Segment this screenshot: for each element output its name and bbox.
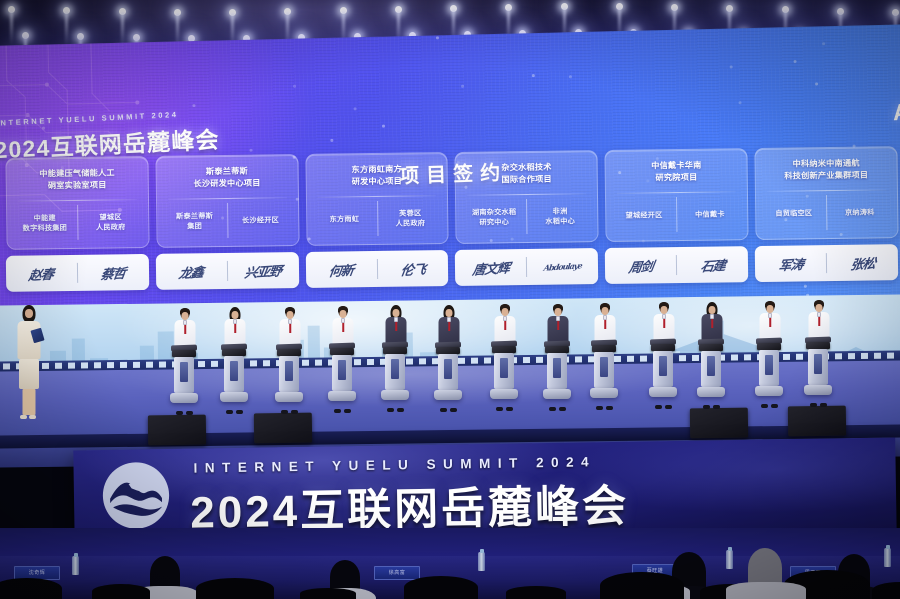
foreground-audience-head bbox=[506, 586, 566, 599]
signing-podium bbox=[653, 344, 673, 400]
project-parties: 斯泰兰蒂斯集团 长沙经开区 bbox=[162, 198, 293, 247]
party-left: 自贸临空区 bbox=[761, 208, 826, 219]
screen-particle bbox=[730, 65, 733, 68]
signature-panel: 何新 伦飞 bbox=[305, 250, 448, 288]
party-left: 湖南杂交水稻研究中心 bbox=[462, 207, 527, 228]
signature-left: 赵春 bbox=[6, 255, 77, 292]
project-title: 东方雨虹南方研发中心项目 bbox=[311, 163, 442, 189]
project-title: 中能建压气储能人工硐室实验室项目 bbox=[12, 167, 143, 193]
project-card: 中科纳米中南通航科技创新产业集群项目 自贸临空区 京纳涛科 bbox=[755, 146, 899, 240]
signing-podium bbox=[438, 347, 458, 403]
party-right: 芙蓉区人民政府 bbox=[378, 208, 443, 229]
party-right: 京纳涛科 bbox=[827, 207, 892, 218]
light-beam bbox=[10, 11, 13, 45]
screen-particle bbox=[794, 60, 797, 63]
signature-right: 兴亚野 bbox=[228, 252, 299, 289]
host-presenter bbox=[12, 303, 46, 421]
project-title: 中信戴卡华南研究院项目 bbox=[611, 159, 742, 185]
project-card: 中信戴卡华南研究院项目 望城经开区 中信戴卡 bbox=[605, 148, 749, 242]
project-card: 杂交水稻技术国际合作项目 湖南杂交水稻研究中心 非洲水稻中心 bbox=[455, 150, 599, 244]
project-card: 东方雨虹南方研发中心项目 东方雨虹 芙蓉区人民政府 bbox=[305, 152, 449, 246]
water-bottle bbox=[726, 550, 733, 569]
signing-podium bbox=[547, 346, 567, 402]
signature-ink: 军涛 bbox=[777, 253, 804, 274]
audience-shoulders-gray bbox=[726, 582, 806, 599]
party-left: 望城经开区 bbox=[611, 210, 676, 221]
signature-panel: 唐文辉 Abdoulaye bbox=[455, 248, 598, 286]
signing-podium bbox=[224, 349, 244, 405]
signature-panel: 赵春 蔡哲 bbox=[6, 254, 149, 292]
party-right: 非洲水稻中心 bbox=[528, 206, 593, 227]
party-right: 望城区人民政府 bbox=[78, 212, 143, 233]
foreground-audience-head bbox=[0, 578, 62, 599]
signature-left: 唐文辉 bbox=[455, 249, 526, 286]
screen-particle bbox=[436, 36, 439, 39]
signature-panel: 军涛 张松 bbox=[755, 244, 898, 282]
signature-left: 龙鑫 bbox=[156, 253, 227, 290]
light-beam bbox=[65, 12, 68, 46]
screen-particle bbox=[532, 74, 535, 77]
project-card: 中能建压气储能人工硐室实验室项目 中能建数字科技集团 望城区人民政府 bbox=[5, 156, 149, 250]
project-title: 杂交水稻技术国际合作项目 bbox=[461, 161, 592, 187]
project-title: 斯泰兰蒂斯长沙研发中心项目 bbox=[161, 165, 292, 191]
name-placard: 徐高富 bbox=[374, 566, 420, 580]
stage-monitor-speaker bbox=[254, 413, 312, 444]
signing-podium bbox=[701, 344, 721, 400]
signing-podium bbox=[174, 350, 194, 406]
signature-ink: 龙鑫 bbox=[178, 261, 205, 282]
party-left: 东方雨虹 bbox=[312, 213, 377, 224]
screen-particle bbox=[739, 101, 742, 104]
signature-ink: 蔡哲 bbox=[100, 262, 127, 283]
screen-particle bbox=[815, 82, 818, 85]
placard-name: 徐高富 bbox=[375, 567, 419, 580]
screen-particle bbox=[330, 139, 333, 142]
party-right: 中信戴卡 bbox=[677, 209, 742, 220]
signature-ink: 何新 bbox=[328, 259, 355, 280]
screen-particle bbox=[461, 85, 464, 88]
stage-monitor-speaker bbox=[690, 408, 748, 439]
project-card-row: 中能建压气储能人工硐室实验室项目 中能建数字科技集团 望城区人民政府 斯泰兰蒂斯… bbox=[1, 146, 900, 250]
screen-particle bbox=[354, 107, 357, 110]
foreground-audience-head bbox=[600, 572, 684, 599]
water-bottle bbox=[478, 552, 485, 571]
project-title: 中科纳米中南通航科技创新产业集群项目 bbox=[761, 157, 892, 183]
party-left: 斯泰兰蒂斯集团 bbox=[162, 210, 227, 231]
screen-particle bbox=[382, 125, 385, 128]
signature-ink: 石建 bbox=[699, 254, 726, 275]
signature-left: 何新 bbox=[305, 251, 376, 288]
project-parties: 望城经开区 中信戴卡 bbox=[611, 192, 742, 241]
project-card: 斯泰兰蒂斯长沙研发中心项目 斯泰兰蒂斯集团 长沙经开区 bbox=[155, 154, 299, 248]
project-parties: 湖南杂交水稻研究中心 非洲水稻中心 bbox=[461, 194, 592, 243]
screen-particle bbox=[192, 104, 195, 107]
water-bottle bbox=[884, 548, 891, 567]
host-tablet-folder bbox=[30, 328, 44, 344]
signature-ink: 兴亚野 bbox=[244, 260, 283, 281]
project-parties: 中能建数字科技集团 望城区人民政府 bbox=[12, 200, 143, 249]
signature-left: 军涛 bbox=[755, 245, 826, 282]
foreground-audience-head bbox=[300, 588, 356, 599]
project-parties: 东方雨虹 芙蓉区人民政府 bbox=[312, 196, 443, 245]
signing-podium bbox=[332, 348, 352, 404]
signing-podium bbox=[279, 349, 299, 405]
screen-particle bbox=[822, 42, 825, 45]
signature-right: Abdoulaye bbox=[527, 248, 598, 285]
screen-particle bbox=[293, 85, 296, 88]
signature-panel: 龙鑫 兴亚野 bbox=[156, 252, 299, 290]
signature-right: 石建 bbox=[677, 246, 748, 283]
party-left: 中能建数字科技集团 bbox=[12, 212, 77, 233]
screen-particle bbox=[569, 75, 572, 78]
signature-ink: 伦飞 bbox=[400, 258, 427, 279]
summit-stage-photo: INTERNET YUELU SUMMIT 2024 2024互联网岳麓峰会 A… bbox=[0, 0, 900, 599]
signature-ink: 唐文辉 bbox=[471, 257, 510, 278]
signature-ink: 周剑 bbox=[627, 255, 654, 276]
stage-monitor-speaker bbox=[788, 406, 846, 437]
signing-podium bbox=[385, 347, 405, 403]
signature-panel: 周剑 石建 bbox=[605, 246, 748, 284]
signature-right: 蔡哲 bbox=[78, 254, 149, 291]
signature-left: 周剑 bbox=[605, 247, 676, 284]
foreground-audience-head bbox=[404, 576, 478, 599]
mountain-wave-logo-icon bbox=[99, 459, 172, 532]
water-bottle bbox=[72, 556, 79, 575]
signature-ink: Abdoulaye bbox=[543, 260, 582, 272]
screen-right-headline: AI湘 bbox=[892, 91, 900, 127]
signing-podium bbox=[808, 342, 828, 398]
foreground-audience-head bbox=[92, 584, 150, 599]
signing-podium bbox=[759, 343, 779, 399]
screen-particle bbox=[804, 285, 807, 288]
signature-ink: 张松 bbox=[849, 252, 876, 273]
signature-right: 张松 bbox=[827, 244, 898, 281]
signing-podium bbox=[494, 346, 514, 402]
foreground-audience-head bbox=[196, 578, 274, 599]
signature-right: 伦飞 bbox=[377, 250, 448, 287]
signature-ink: 赵春 bbox=[28, 263, 55, 284]
signing-podium bbox=[594, 345, 614, 401]
party-right: 长沙经开区 bbox=[228, 215, 293, 226]
stage-monitor-speaker bbox=[148, 415, 206, 446]
project-parties: 自贸临空区 京纳涛科 bbox=[761, 190, 892, 239]
